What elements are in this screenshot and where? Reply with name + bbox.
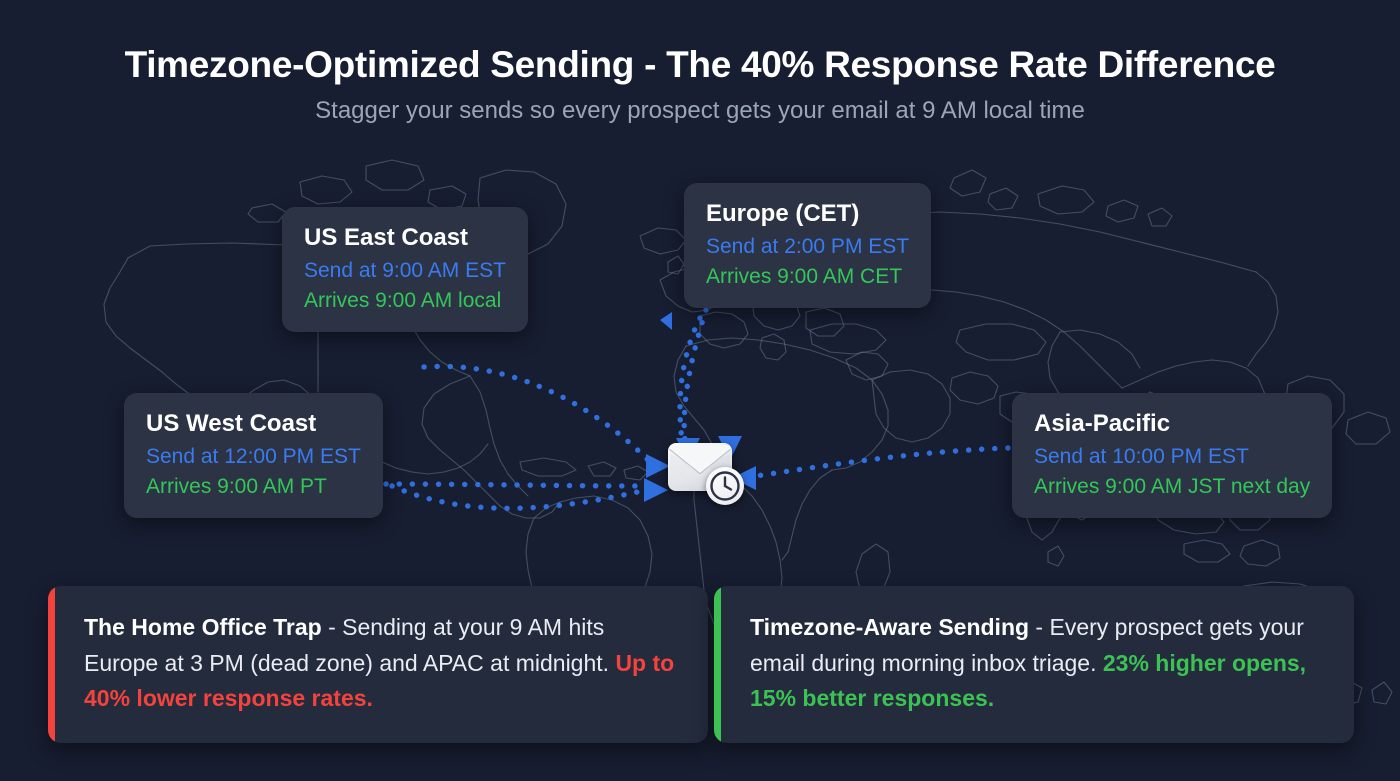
- region-card-europe[interactable]: Europe (CET) Send at 2:00 PM EST Arrives…: [684, 183, 931, 308]
- callout-text: The Home Office Trap - Sending at your 9…: [48, 586, 708, 743]
- infographic-root: Timezone-Optimized Sending - The 40% Res…: [0, 0, 1400, 781]
- region-name: Europe (CET): [706, 199, 909, 229]
- callout-accent-bar: [714, 586, 721, 743]
- region-arrive-time: Arrives 9:00 AM JST next day: [1034, 472, 1310, 502]
- callout-timezone-aware-sending: Timezone-Aware Sending - Every prospect …: [714, 586, 1354, 743]
- region-name: Asia-Pacific: [1034, 409, 1310, 439]
- callout-lead: Timezone-Aware Sending: [750, 614, 1029, 640]
- page-title: Timezone-Optimized Sending - The 40% Res…: [0, 44, 1400, 86]
- clock-icon: [706, 467, 744, 505]
- region-name: US East Coast: [304, 223, 506, 253]
- region-card-us-west[interactable]: US West Coast Send at 12:00 PM EST Arriv…: [124, 393, 383, 518]
- region-card-asia-pacific[interactable]: Asia-Pacific Send at 10:00 PM EST Arrive…: [1012, 393, 1332, 518]
- page-subtitle: Stagger your sends so every prospect get…: [0, 97, 1400, 125]
- region-send-time: Send at 12:00 PM EST: [146, 442, 361, 472]
- region-card-us-east[interactable]: US East Coast Send at 9:00 AM EST Arrive…: [282, 207, 528, 332]
- callout-text: Timezone-Aware Sending - Every prospect …: [714, 586, 1354, 743]
- callout-accent-bar: [48, 586, 55, 743]
- callout-lead: The Home Office Trap: [84, 614, 322, 640]
- region-name: US West Coast: [146, 409, 361, 439]
- region-arrive-time: Arrives 9:00 AM local: [304, 286, 506, 316]
- region-send-time: Send at 9:00 AM EST: [304, 256, 506, 286]
- header: Timezone-Optimized Sending - The 40% Res…: [0, 0, 1400, 125]
- region-arrive-time: Arrives 9:00 AM PT: [146, 472, 361, 502]
- region-send-time: Send at 2:00 PM EST: [706, 232, 909, 262]
- region-send-time: Send at 10:00 PM EST: [1034, 442, 1310, 472]
- email-clock-icon: [668, 443, 746, 505]
- callout-home-office-trap: The Home Office Trap - Sending at your 9…: [48, 586, 708, 743]
- region-arrive-time: Arrives 9:00 AM CET: [706, 262, 909, 292]
